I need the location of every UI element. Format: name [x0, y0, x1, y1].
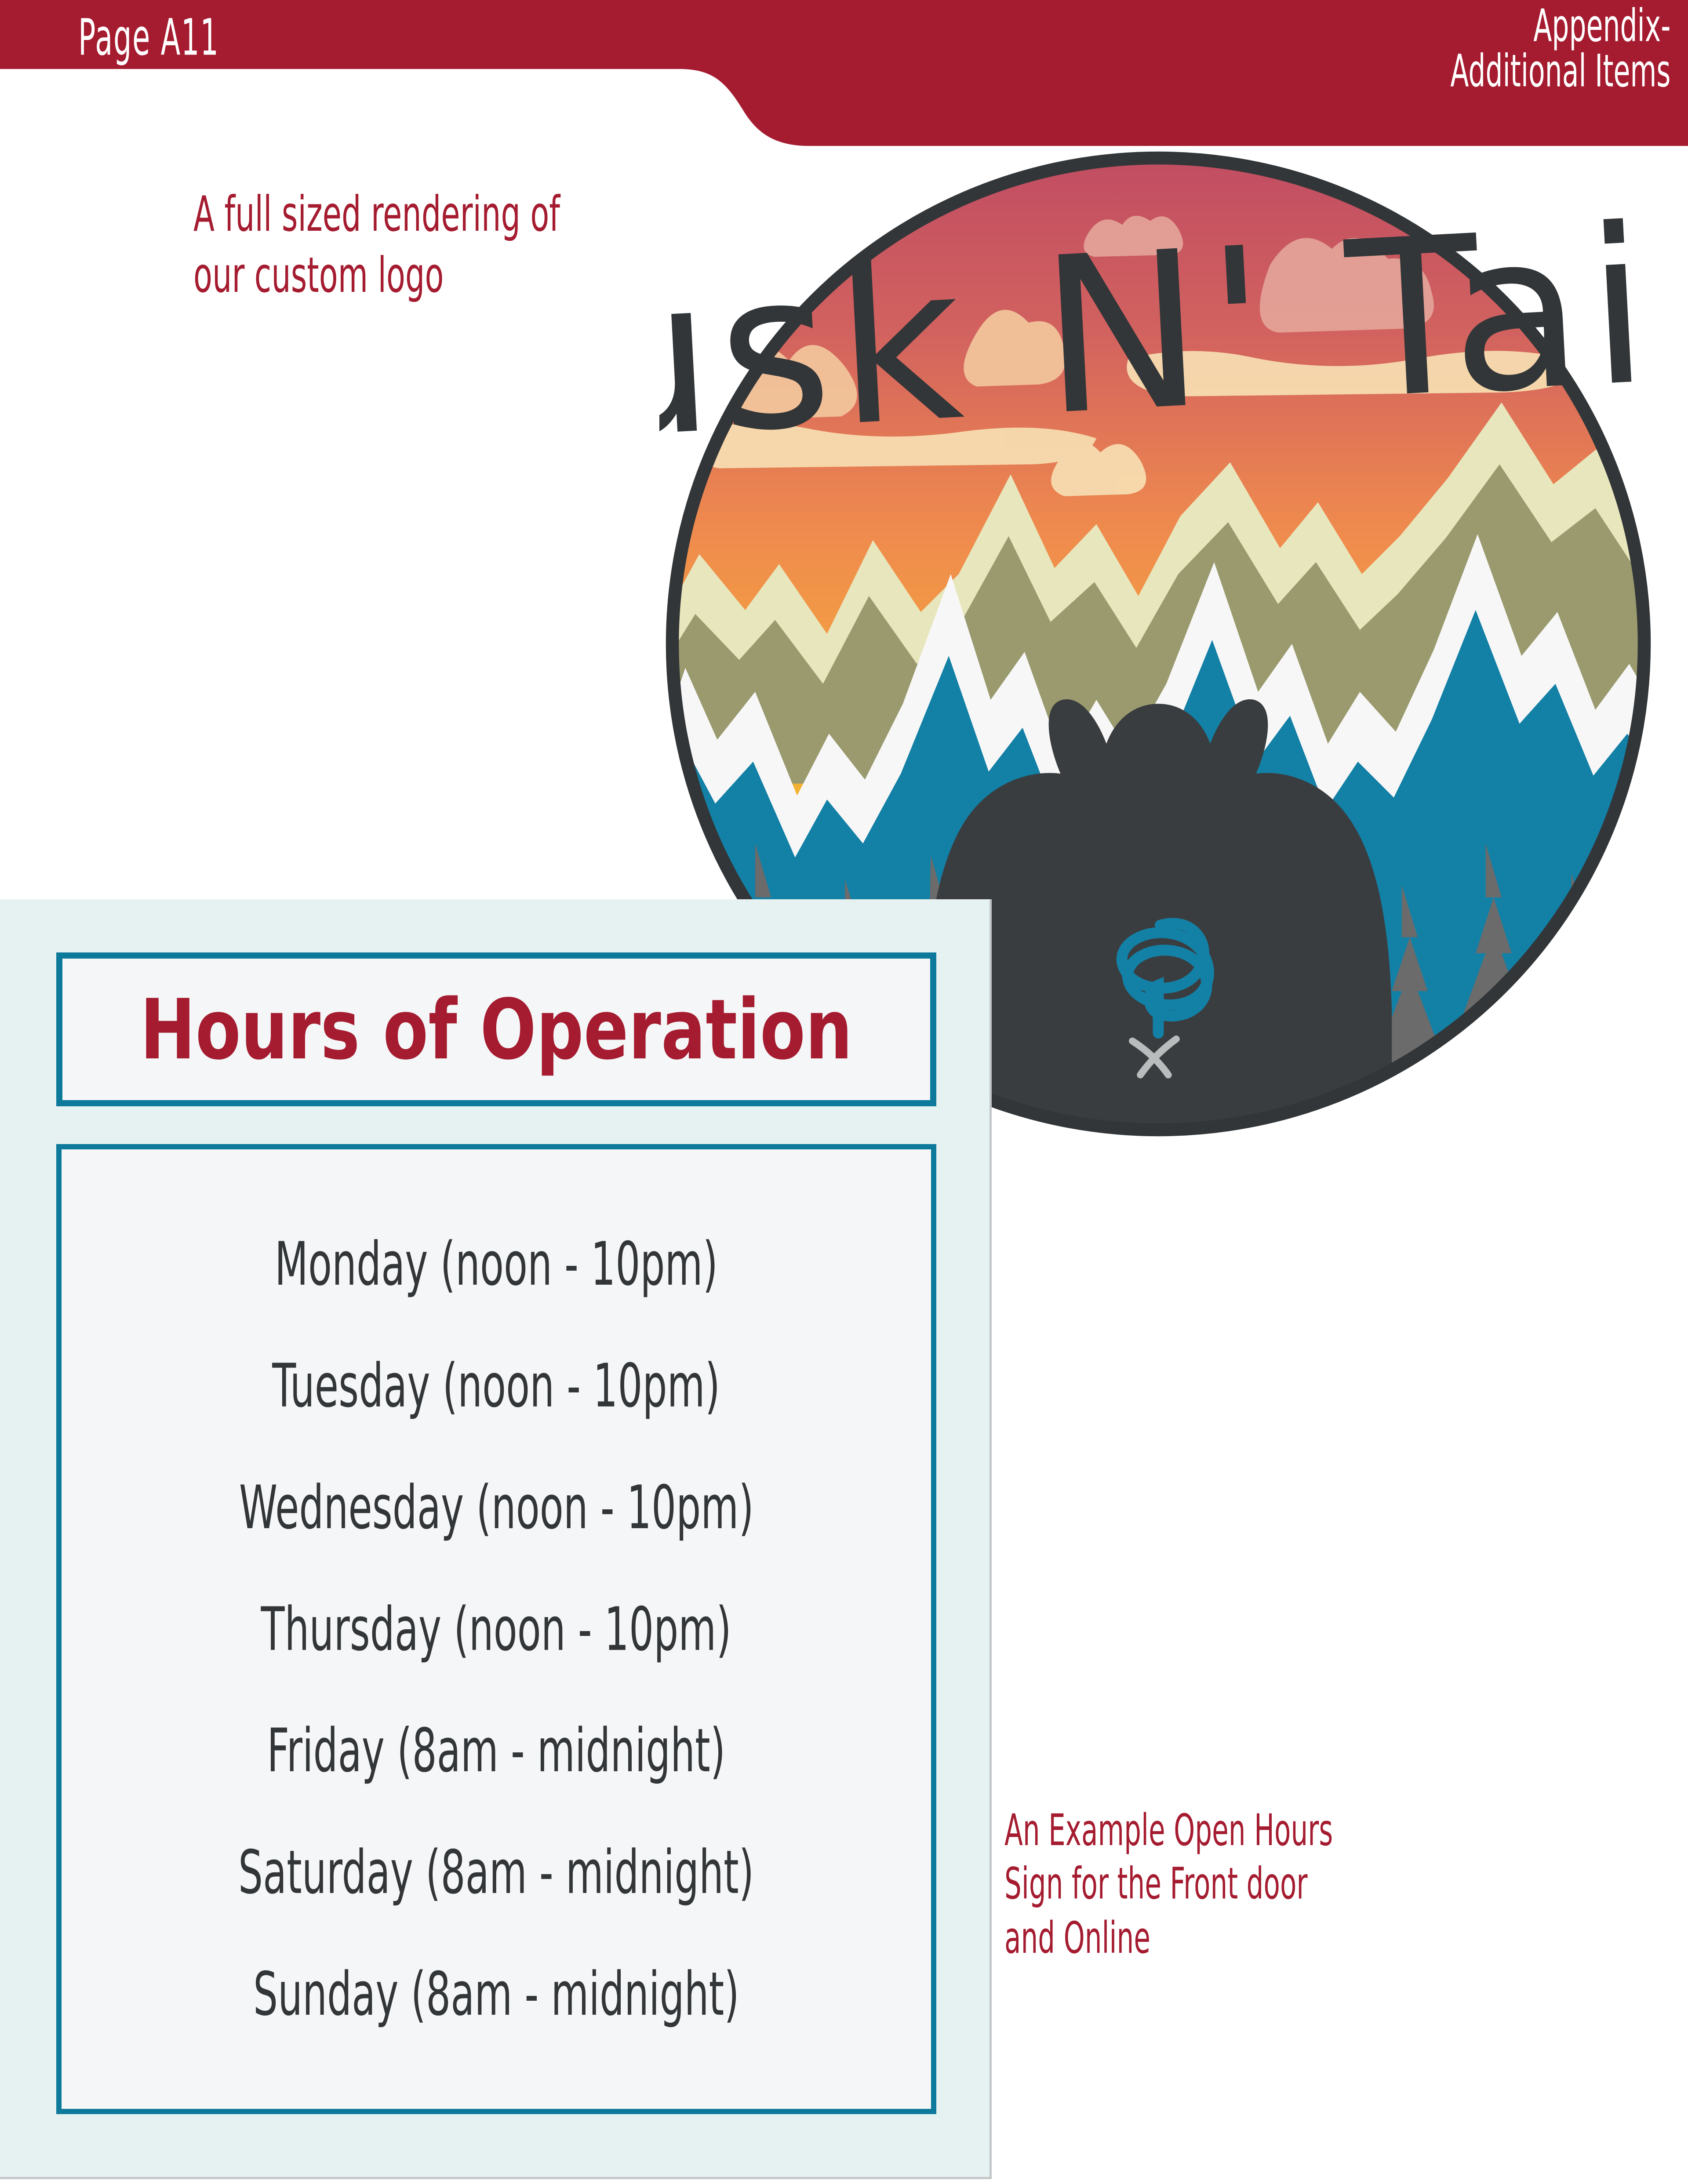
logo-caption: A full sized rendering of our custom log… [193, 185, 560, 306]
sign-caption-line1: An Example Open Hours [1004, 1804, 1333, 1858]
sign-caption-line2: Sign for the Front door [1004, 1858, 1333, 1911]
header-band [0, 0, 1688, 158]
section-title-line1: Appendix- [1450, 4, 1670, 49]
hours-row: Monday (noon - 10pm) [275, 1229, 718, 1299]
hours-row: Tuesday (noon - 10pm) [273, 1351, 720, 1421]
hours-title: Hours of Operation [140, 981, 852, 1078]
logo-caption-line1: A full sized rendering of [193, 185, 560, 245]
section-title-line2: Additional Items [1450, 49, 1670, 95]
appendix-page: Page A11 Appendix- Additional Items A fu… [0, 0, 1688, 2184]
logo-caption-line2: our custom logo [193, 245, 560, 306]
sign-caption-line3: and Online [1004, 1912, 1333, 1966]
hours-row: Wednesday (noon - 10pm) [239, 1472, 754, 1542]
sign-caption: An Example Open Hours Sign for the Front… [1004, 1804, 1333, 1966]
hours-row: Friday (8am - midnight) [267, 1716, 726, 1786]
hours-title-box: Hours of Operation [56, 952, 936, 1106]
hours-list-box: Monday (noon - 10pm) Tuesday (noon - 10p… [56, 1144, 936, 2114]
page-label: Page A11 [78, 8, 219, 67]
hours-row: Sunday (8am - midnight) [253, 1959, 739, 2029]
hours-row: Saturday (8am - midnight) [238, 1838, 754, 1908]
hours-row: Thursday (noon - 10pm) [261, 1594, 731, 1664]
section-title: Appendix- Additional Items [1450, 4, 1670, 94]
